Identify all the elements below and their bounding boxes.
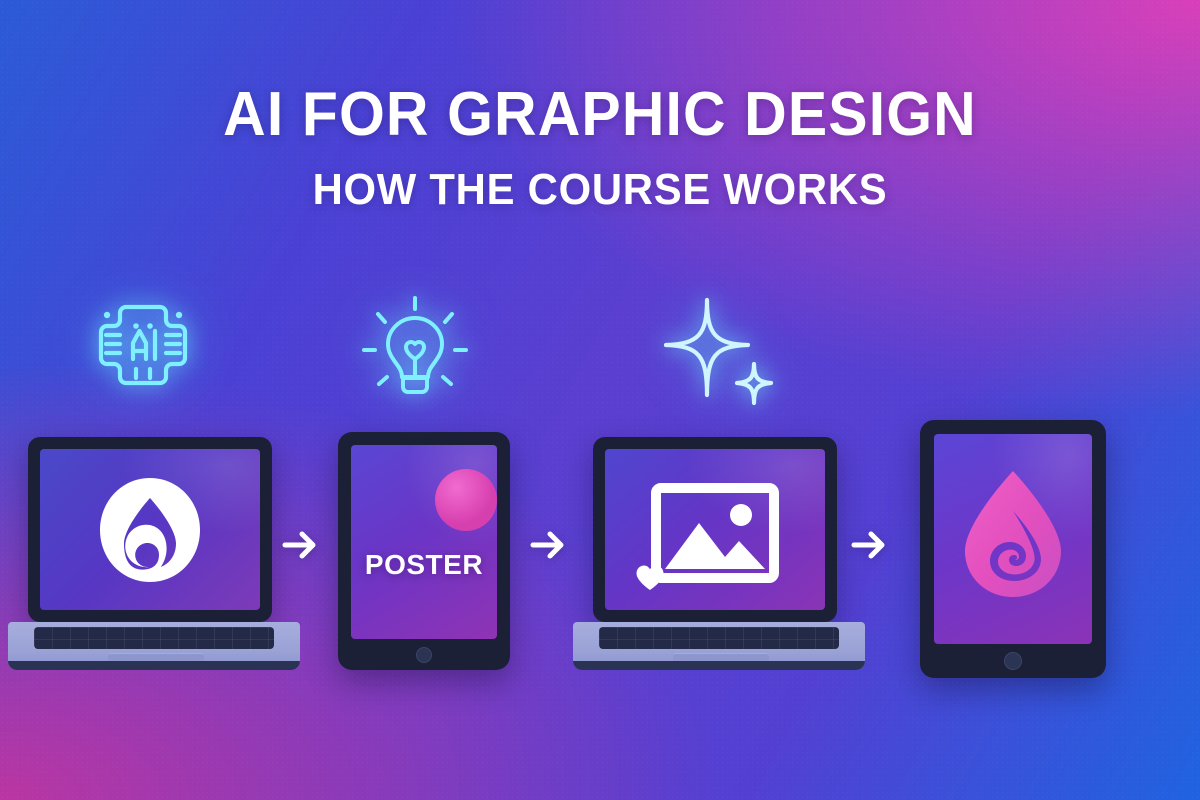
laptop-keyboard [34, 627, 274, 649]
laptop-lid [28, 437, 272, 622]
page-subtitle: HOW THE COURSE WORKS [30, 168, 1170, 212]
laptop-base [8, 622, 300, 670]
tablet-home-button[interactable] [1004, 652, 1022, 670]
tablet-home-button[interactable] [416, 647, 432, 663]
brand-droplet-logo-white [98, 476, 202, 584]
tablet-body [920, 420, 1106, 678]
tablet-body: POSTER [338, 432, 510, 670]
title-block: AI FOR GRAPHIC DESIGN HOW THE COURSE WOR… [0, 84, 1200, 212]
laptop-base [573, 622, 865, 670]
slide-canvas: AI FOR GRAPHIC DESIGN HOW THE COURSE WOR… [0, 0, 1200, 800]
arrow-3 [845, 521, 893, 569]
poster-label: POSTER [351, 549, 497, 581]
arrow-1 [276, 521, 324, 569]
laptop-base-lip [8, 661, 300, 670]
arrow-2 [524, 521, 572, 569]
laptop-keyboard [599, 627, 839, 649]
heart-icon [635, 564, 665, 592]
page-title: AI FOR GRAPHIC DESIGN [30, 84, 1170, 146]
laptop-lid [593, 437, 837, 622]
laptop-base-lip [573, 661, 865, 670]
laptop-screen [605, 449, 825, 610]
tablet-screen [934, 434, 1092, 644]
laptop-screen [40, 449, 260, 610]
poster-accent-circle [435, 469, 497, 531]
brand-droplet-logo-pink [957, 467, 1069, 603]
tablet-screen: POSTER [351, 445, 497, 639]
image-placeholder-icon [651, 483, 779, 587]
